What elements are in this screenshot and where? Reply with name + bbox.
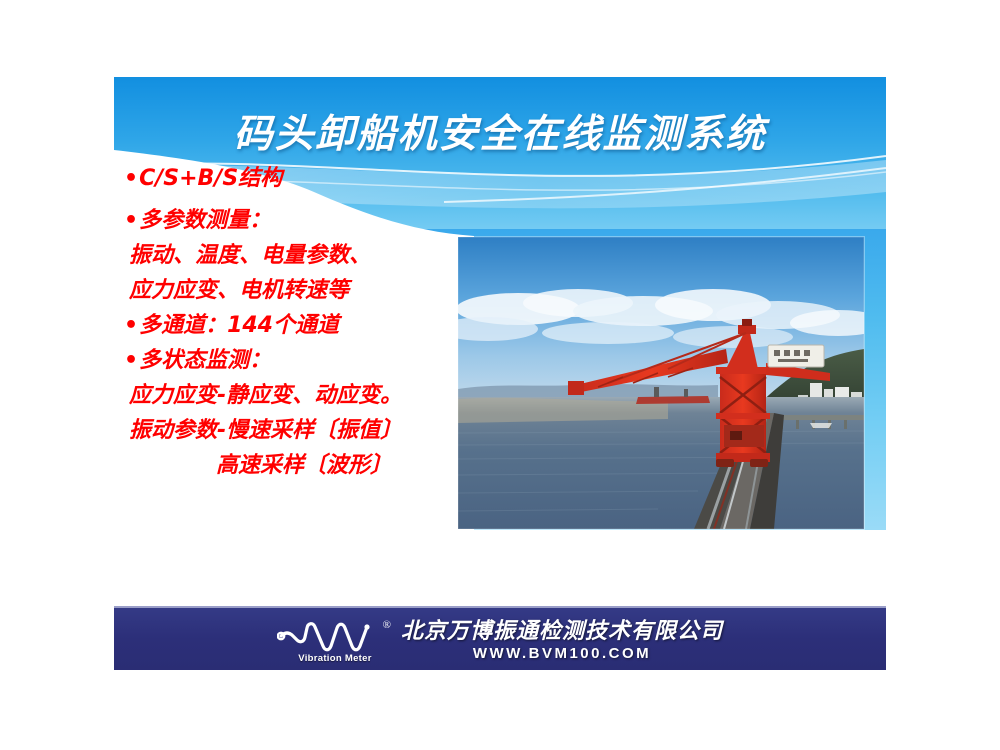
bullet-marker: • — [124, 166, 139, 191]
list-item-label: 振动参数-慢速采样〔振值〕 — [129, 418, 402, 443]
footer-text-block: 北京万博振通检测技术有限公司 WWW.BVM100.COM — [401, 621, 723, 661]
list-item: 振动、温度、电量参数、 — [124, 245, 474, 267]
waveform-icon — [277, 618, 389, 654]
company-website[interactable]: WWW.BVM100.COM — [473, 646, 651, 661]
bullet-marker: • — [124, 348, 139, 373]
list-item: •多通道：144个通道 — [124, 315, 474, 337]
photo-barge — [636, 396, 710, 404]
list-item-label: 多通道：144个通道 — [139, 313, 339, 338]
bullet-list: •C/S+B/S结构 •多参数测量： 振动、温度、电量参数、 应力应变、电机转速… — [124, 168, 474, 490]
company-name: 北京万博振通检测技术有限公司 — [401, 621, 723, 643]
footer-bar: ® Vibration Meter 北京万博振通检测技术有限公司 WWW.BVM… — [114, 606, 886, 670]
list-item-label: 高速采样〔波形〕 — [216, 453, 392, 478]
list-item: •C/S+B/S结构 — [124, 168, 474, 190]
logo-caption: Vibration Meter — [283, 653, 387, 664]
list-item: 应力应变-静应变、动应变。 — [124, 385, 474, 407]
bullet-marker: • — [124, 208, 139, 233]
list-item-label: 多参数测量： — [139, 208, 271, 233]
list-item-label: 应力应变、电机转速等 — [129, 278, 349, 303]
footer-content: ® Vibration Meter 北京万博振通检测技术有限公司 WWW.BVM… — [277, 618, 723, 664]
list-item-label: 应力应变-静应变、动应变。 — [129, 383, 402, 408]
registered-trademark-icon: ® — [383, 619, 391, 631]
list-item: •多状态监测： — [124, 350, 474, 372]
bullet-marker: • — [124, 313, 139, 338]
slide-canvas: 码头卸船机安全在线监测系统 — [0, 0, 1000, 750]
ship-unloader-photo — [458, 237, 864, 529]
photo-sandbar — [458, 398, 668, 423]
list-item-label: C/S+B/S结构 — [139, 166, 282, 191]
vibration-meter-logo: ® Vibration Meter — [277, 618, 389, 664]
photo-small-boat — [810, 423, 832, 428]
list-item: 应力应变、电机转速等 — [124, 280, 474, 302]
list-item-label: 振动、温度、电量参数、 — [129, 243, 371, 268]
list-item: 振动参数-慢速采样〔振值〕 — [124, 420, 474, 442]
list-item: •多参数测量： — [124, 210, 474, 232]
page-title: 码头卸船机安全在线监测系统 — [114, 103, 886, 159]
list-item-label: 多状态监测： — [139, 348, 271, 373]
list-item: 高速采样〔波形〕 — [124, 455, 474, 477]
